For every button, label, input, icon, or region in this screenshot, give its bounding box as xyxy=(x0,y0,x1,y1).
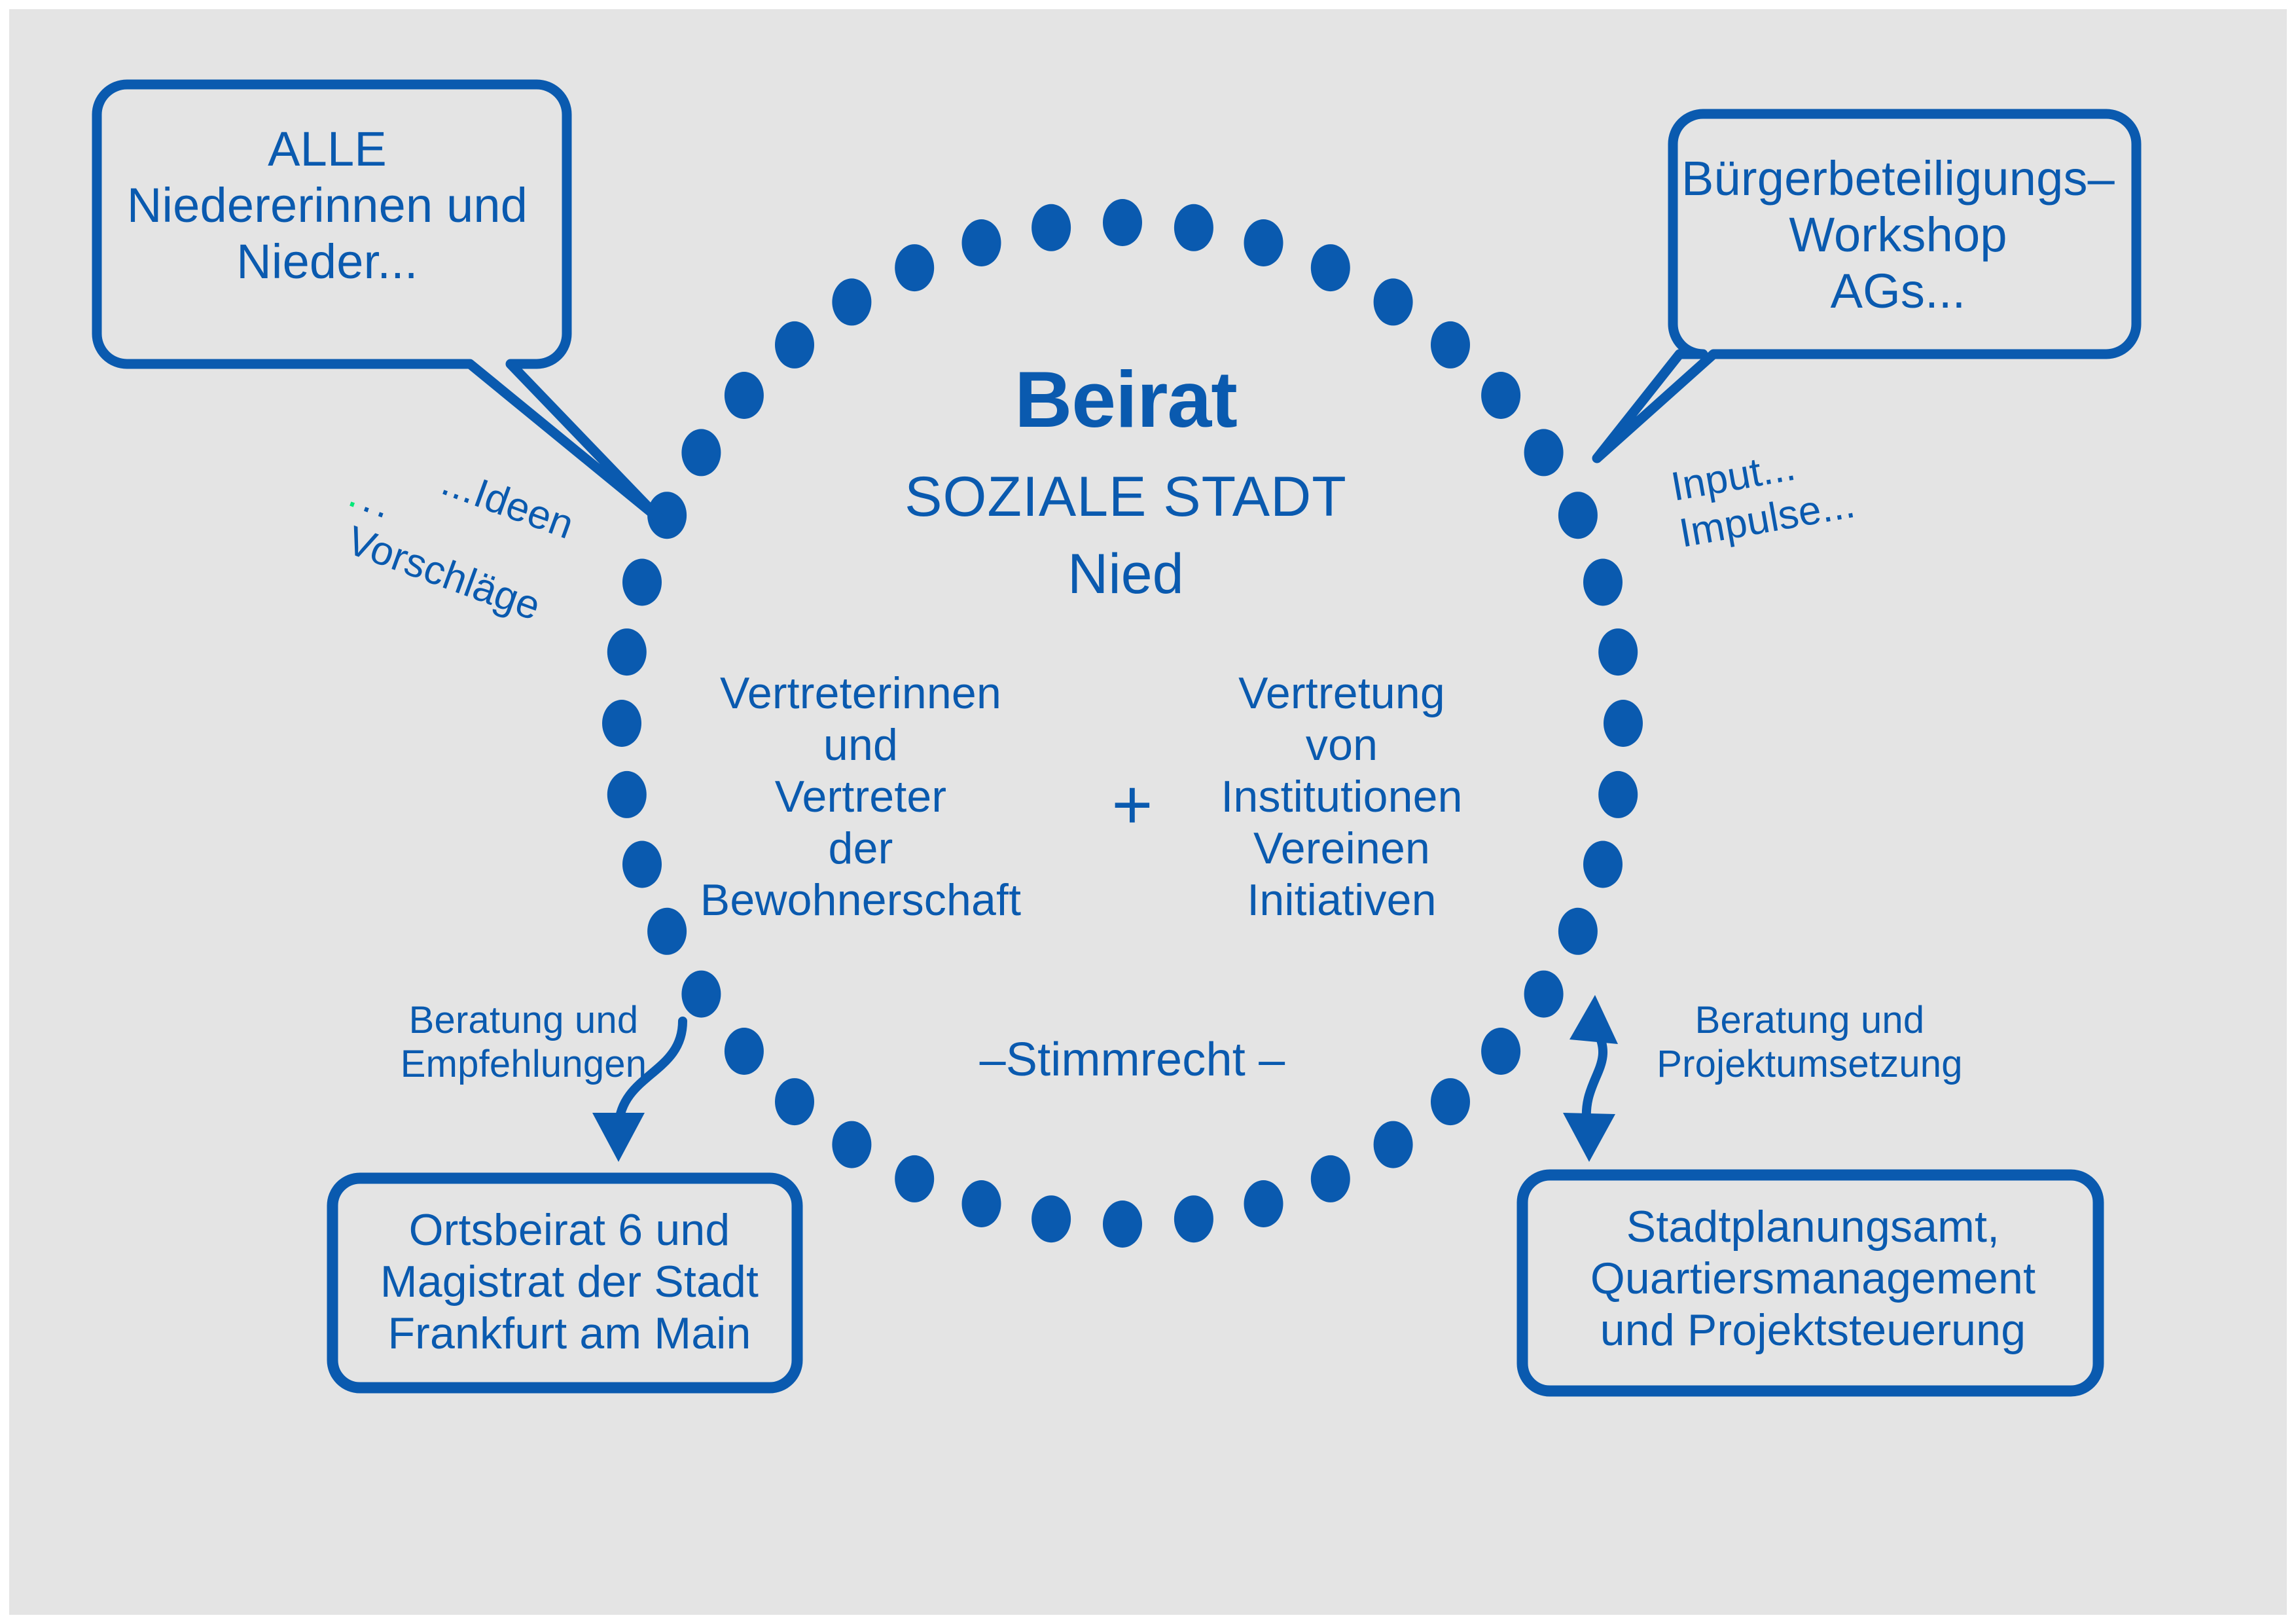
ring-dot xyxy=(1524,429,1564,476)
page-title: Beirat xyxy=(779,353,1473,446)
ring-dot xyxy=(1558,492,1598,539)
ring-dot xyxy=(1481,1028,1520,1075)
ring-dot xyxy=(1374,278,1413,325)
ring-dot xyxy=(1311,1155,1350,1202)
ring-dot xyxy=(1103,1200,1142,1248)
ring-dot xyxy=(1174,204,1213,251)
diagram-canvas: ALLE Niedererinnen und Nieder... Bürgerb… xyxy=(0,0,2296,1624)
ring-dot xyxy=(962,1180,1001,1227)
arrow-beratung-right xyxy=(1563,995,1618,1162)
ring-dot xyxy=(1244,219,1283,266)
center-subtitle-line2: Nied xyxy=(779,542,1473,607)
ring-dot xyxy=(895,1155,934,1202)
ring-dot xyxy=(1244,1180,1283,1227)
annotation-beratung-projektumsetzung: Beratung und Projektumsetzung xyxy=(1636,998,1983,1087)
ring-dot xyxy=(1598,771,1638,818)
ring-dot xyxy=(622,841,662,888)
ring-dot xyxy=(1481,372,1520,419)
ring-dot xyxy=(962,219,1001,266)
annotation-beratung-empfehlungen: Beratung und Empfehlungen xyxy=(367,998,681,1087)
ring-dot xyxy=(1174,1195,1213,1242)
ring-dot xyxy=(1524,971,1564,1018)
ring-dot xyxy=(775,1078,814,1125)
members-column-residents: Vertreterinnen und Vertreter der Bewohne… xyxy=(691,668,1031,926)
ring-dot xyxy=(602,700,641,747)
ring-dot xyxy=(725,1028,764,1075)
ring-dot xyxy=(1103,199,1142,246)
bubble-left-label: ALLE Niedererinnen und Nieder... xyxy=(92,121,563,289)
ring-dot xyxy=(1604,700,1643,747)
box-ortsbeirat-label: Ortsbeirat 6 und Magistrat der Stadt Fra… xyxy=(340,1204,798,1360)
ring-dot xyxy=(1558,908,1598,955)
ring-dot xyxy=(1031,1195,1071,1242)
ring-dot xyxy=(1598,628,1638,676)
center-subtitle-line1: SOZIALE STADT xyxy=(779,465,1473,530)
members-column-institutions: Vertretung von Institutionen Vereinen In… xyxy=(1172,668,1512,926)
ring-dot xyxy=(725,372,764,419)
ring-dot xyxy=(1431,1078,1470,1125)
ring-dot xyxy=(681,429,721,476)
voting-rights-note: –Stimmrecht – xyxy=(929,1033,1335,1088)
ring-dot xyxy=(1374,1121,1413,1168)
ring-dot xyxy=(832,1121,871,1168)
box-stadtplanungsamt-label: Stadtplanungsamt, Quartiersmanagement un… xyxy=(1532,1201,2094,1356)
ring-dot xyxy=(607,771,647,818)
ring-dot xyxy=(1031,204,1071,251)
ring-dot xyxy=(647,908,687,955)
ring-dot xyxy=(1311,244,1350,291)
ring-dot xyxy=(832,278,871,325)
ring-dot xyxy=(681,971,721,1018)
ring-dot xyxy=(1583,841,1623,888)
ring-dot xyxy=(1583,559,1623,606)
ring-dot xyxy=(895,244,934,291)
bubble-right-label: Bürgerbeteiligungs– Workshop AGs... xyxy=(1662,151,2134,319)
